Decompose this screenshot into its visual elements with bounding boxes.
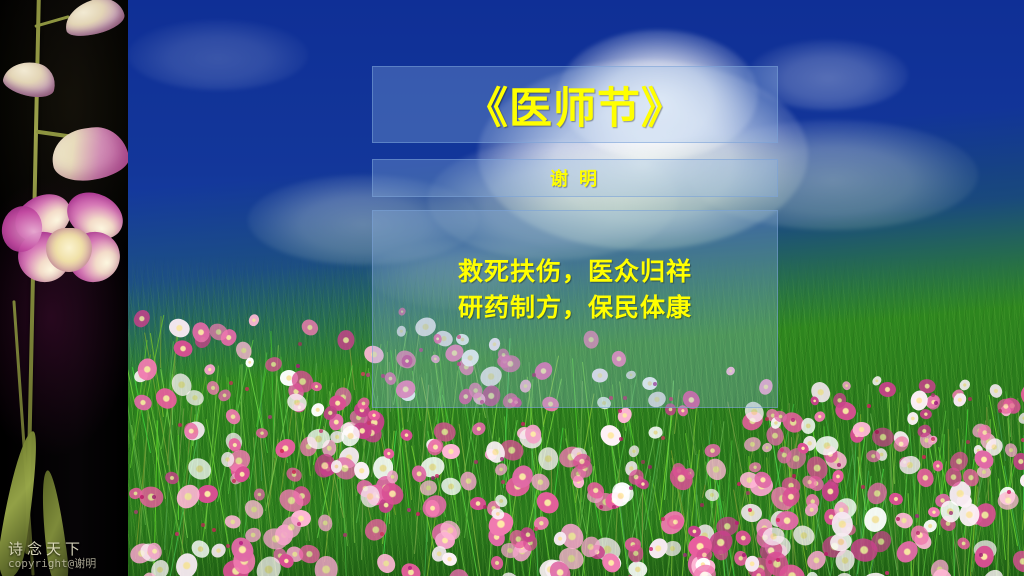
- flower-bud: [226, 544, 230, 548]
- cosmos-flower: [800, 418, 814, 435]
- flower-bud: [742, 553, 746, 557]
- flower-bud: [298, 342, 302, 346]
- flower-bud: [296, 364, 300, 368]
- cosmos-flower: [489, 554, 504, 571]
- flower-bud: [268, 415, 272, 419]
- flower-bud: [201, 523, 205, 527]
- cosmos-flower: [988, 382, 1005, 400]
- cosmos-flower: [298, 316, 321, 339]
- flower-bud: [867, 404, 871, 408]
- cosmos-flower: [387, 470, 399, 484]
- flower-bud: [641, 460, 645, 464]
- cosmos-flower: [841, 380, 852, 391]
- flower-bud: [661, 436, 665, 440]
- flower-bud: [661, 517, 665, 521]
- flower-bud: [292, 470, 296, 474]
- cosmos-flower: [247, 313, 260, 328]
- cosmos-flower: [627, 443, 641, 458]
- cosmos-flower: [442, 444, 461, 460]
- flower-bud: [431, 476, 435, 480]
- flower-bud: [280, 449, 284, 453]
- flower-bud: [245, 387, 249, 391]
- flower-bud: [134, 510, 138, 514]
- poem-body: 救死扶伤，医众归祥 研药制方，保民体康: [372, 210, 778, 408]
- cosmos-flower: [203, 363, 218, 378]
- flower-stem: [128, 324, 136, 403]
- flower-bud: [619, 437, 623, 441]
- orchid-side-panel: 诗念天下 copyright@谢明: [0, 0, 128, 576]
- flower-bud: [319, 429, 323, 433]
- flower-bud: [380, 532, 384, 536]
- flower-bud: [649, 547, 653, 551]
- cosmos-flower: [538, 446, 559, 470]
- flower-bud: [416, 512, 420, 516]
- flower-bud: [885, 571, 889, 575]
- cosmos-flower: [317, 514, 334, 533]
- cosmos-flower: [665, 463, 697, 495]
- cosmos-flower: [742, 435, 762, 454]
- flower-bud: [521, 422, 525, 426]
- flower-bud: [748, 508, 752, 512]
- flower-bud: [765, 417, 769, 421]
- page-title: 《医师节》: [372, 66, 778, 143]
- flower-bud: [949, 511, 953, 515]
- cosmos-flower: [361, 485, 380, 507]
- flower-bud: [474, 460, 478, 464]
- cosmos-flower: [223, 406, 243, 426]
- flower-bud: [922, 455, 926, 459]
- cosmos-flower: [221, 452, 234, 467]
- watermark: 诗念天下 copyright@谢明: [8, 542, 96, 570]
- flower-bud: [1021, 438, 1024, 442]
- cosmos-flower: [524, 423, 542, 443]
- flower-bud: [178, 423, 182, 427]
- flower-bud: [1007, 490, 1011, 494]
- flower-bud: [861, 485, 865, 489]
- flower-bud: [407, 508, 411, 512]
- flower-bud: [737, 482, 741, 486]
- cosmos-flower: [944, 467, 961, 487]
- flower-bud: [998, 409, 1002, 413]
- cosmos-flower: [448, 569, 469, 576]
- cosmos-flower: [208, 541, 228, 561]
- cosmos-flower: [597, 420, 626, 449]
- flower-bud: [966, 440, 970, 444]
- flower-bud: [791, 418, 795, 422]
- watermark-copyright: copyright@谢明: [8, 558, 96, 570]
- flower-bud: [915, 514, 919, 518]
- flower-bud: [361, 372, 365, 376]
- flower-bud: [837, 463, 841, 467]
- cosmos-flower: [821, 481, 840, 503]
- flower-bud: [232, 479, 236, 483]
- flower-bud: [140, 495, 144, 499]
- author-name: 谢 明: [372, 159, 778, 197]
- cosmos-flower: [374, 551, 400, 576]
- cosmos-flower: [256, 427, 269, 439]
- cosmos-flower: [666, 515, 683, 530]
- cosmos-flower: [499, 569, 522, 576]
- flower-bud: [824, 552, 828, 556]
- cosmos-flower: [806, 572, 818, 576]
- cosmos-flower: [353, 460, 372, 481]
- flower-bud: [746, 491, 750, 495]
- cosmos-flower: [254, 488, 265, 501]
- flower-bud: [175, 532, 179, 536]
- cosmos-flower: [878, 381, 897, 398]
- cosmos-flower: [853, 421, 872, 437]
- slide-canvas: 《医师节》 谢 明 救死扶伤，医众归祥 研药制方，保民体康 诗念天下 copyr…: [0, 0, 1024, 576]
- cosmos-flower: [979, 567, 1006, 576]
- flower-bud: [700, 503, 704, 507]
- flower-bud: [483, 505, 487, 509]
- watermark-brand: 诗念天下: [8, 542, 96, 558]
- flower-bud: [229, 381, 233, 385]
- cosmos-flower: [166, 315, 192, 339]
- cosmos-flower: [337, 330, 355, 351]
- flower-bud: [896, 517, 900, 521]
- flower-bud: [152, 495, 156, 499]
- flower-bud: [648, 465, 652, 469]
- poem-line-2: 研药制方，保民体康: [458, 290, 692, 326]
- flower-bud: [212, 528, 216, 532]
- cosmos-flower: [1009, 547, 1024, 576]
- flower-bud: [534, 527, 538, 531]
- poem-line-1: 救死扶伤，医众归祥: [458, 254, 692, 290]
- flower-bud: [435, 474, 439, 478]
- flower-bud: [968, 397, 972, 401]
- cosmos-flower: [130, 307, 152, 330]
- cosmos-flower: [1020, 474, 1024, 488]
